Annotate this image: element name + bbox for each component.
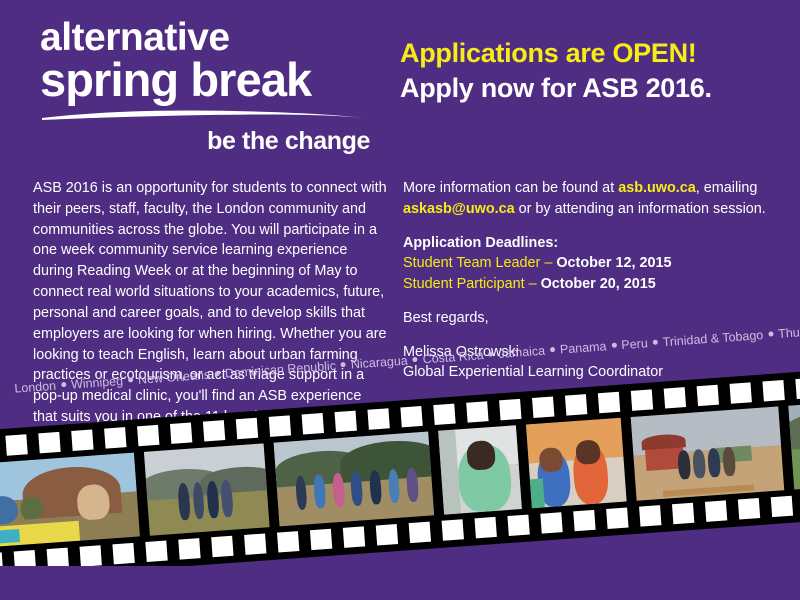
location-separator-dot-icon xyxy=(488,352,493,357)
location-separator-dot-icon xyxy=(653,340,658,345)
deadline-separator: – xyxy=(540,255,556,271)
film-sprocket-hole-icon xyxy=(71,430,93,451)
film-sprocket-hole-icon xyxy=(573,510,595,531)
location-separator-dot-icon xyxy=(550,347,555,352)
location-separator-dot-icon xyxy=(61,382,66,387)
photo-shape xyxy=(20,496,44,519)
film-sprocket-hole-icon xyxy=(409,522,431,543)
film-sprocket-hole-icon xyxy=(80,545,102,566)
asb-logo: alternative spring break be the change xyxy=(40,18,370,156)
film-sprocket-hole-icon xyxy=(343,526,365,547)
photo-shape xyxy=(466,440,496,470)
location-separator-dot-icon xyxy=(128,377,133,382)
film-sprocket-hole-icon xyxy=(277,531,299,552)
film-sprocket-hole-icon xyxy=(795,378,800,399)
film-sprocket-hole-icon xyxy=(367,408,389,429)
film-sprocket-hole-icon xyxy=(664,387,686,408)
deadline-date: October 12, 2015 xyxy=(556,255,671,271)
deadline-separator: – xyxy=(525,276,541,292)
info-suffix-text: or by attending an information session. xyxy=(515,201,766,217)
location-item: London xyxy=(14,379,57,396)
film-sprocket-hole-icon xyxy=(705,500,727,521)
closing-salutation: Best regards, xyxy=(403,308,778,329)
film-sprocket-hole-icon xyxy=(474,517,496,538)
photo-shape xyxy=(575,439,601,464)
film-sprocket-hole-icon xyxy=(672,503,694,524)
film-sprocket-hole-icon xyxy=(598,392,620,413)
deadline-row: Student Participant – October 20, 2015 xyxy=(403,274,778,295)
film-sprocket-hole-icon xyxy=(178,538,200,559)
film-sprocket-hole-icon xyxy=(730,382,752,403)
filmstrip-photo xyxy=(274,432,435,527)
deadlines-heading: Application Deadlines: xyxy=(403,233,778,254)
film-sprocket-hole-icon xyxy=(302,413,324,434)
bottom-purple-band xyxy=(0,566,800,600)
film-sprocket-hole-icon xyxy=(112,543,134,564)
filmstrip-photo: 23 xyxy=(0,453,140,548)
filmstrip-photo xyxy=(788,392,800,489)
filmstrip-photo xyxy=(438,425,522,514)
film-sprocket-hole-icon xyxy=(203,420,225,441)
filmstrip-photo xyxy=(144,443,270,535)
film-sprocket-hole-icon xyxy=(639,505,661,526)
film-sprocket-hole-icon xyxy=(565,394,587,415)
film-sprocket-hole-icon xyxy=(532,397,554,418)
location-item: Nicaragua xyxy=(350,354,408,372)
logo-tagline: be the change xyxy=(40,127,370,156)
film-sprocket-hole-icon xyxy=(433,404,455,425)
film-sprocket-hole-icon xyxy=(507,515,529,536)
film-sprocket-hole-icon xyxy=(38,432,60,453)
photo-shape xyxy=(0,529,20,543)
film-sprocket-hole-icon xyxy=(335,411,357,432)
photo-shape xyxy=(76,483,110,520)
info-prefix-text: More information can be found at xyxy=(403,180,618,196)
filmstrip-photo xyxy=(631,406,785,500)
location-item: Peru xyxy=(621,336,648,352)
location-separator-dot-icon xyxy=(611,343,616,348)
contact-info-paragraph: More information can be found at asb.uwo… xyxy=(403,178,778,220)
film-sprocket-hole-icon xyxy=(762,380,784,401)
film-sprocket-hole-icon xyxy=(269,415,291,436)
film-sprocket-hole-icon xyxy=(310,529,332,550)
logo-line-spring-break: spring break xyxy=(40,56,370,104)
swoosh-flourish-icon xyxy=(40,108,370,124)
film-sprocket-hole-icon xyxy=(400,406,422,427)
deadline-date: October 20, 2015 xyxy=(541,276,656,292)
film-sprocket-hole-icon xyxy=(771,496,793,517)
deadline-label: Student Team Leader xyxy=(403,255,540,271)
headline-applications-open: Applications are OPEN! xyxy=(400,36,780,71)
photo-shape xyxy=(530,479,545,508)
film-sprocket-hole-icon xyxy=(211,536,233,557)
film-sprocket-hole-icon xyxy=(499,399,521,420)
film-sprocket-hole-icon xyxy=(137,425,159,446)
film-sprocket-hole-icon xyxy=(466,401,488,422)
film-sprocket-hole-icon xyxy=(170,422,192,443)
location-separator-dot-icon xyxy=(215,371,220,376)
location-item: Thunder Bay xyxy=(778,322,800,341)
location-separator-dot-icon xyxy=(412,357,417,362)
film-sprocket-hole-icon xyxy=(236,418,258,439)
deadline-label: Student Participant xyxy=(403,276,525,292)
photo-shape xyxy=(539,447,563,472)
info-middle-text: , emailing xyxy=(696,180,758,196)
filmstrip-photo xyxy=(526,418,627,509)
film-sprocket-hole-icon xyxy=(376,524,398,545)
headline-apply-now: Apply now for ASB 2016. xyxy=(400,71,780,106)
film-sprocket-hole-icon xyxy=(442,519,464,540)
logo-line-alternative: alternative xyxy=(40,18,370,58)
film-sprocket-hole-icon xyxy=(697,385,719,406)
film-sprocket-hole-icon xyxy=(104,427,126,448)
film-sprocket-hole-icon xyxy=(145,541,167,562)
deadline-row: Student Team Leader – October 12, 2015 xyxy=(403,253,778,274)
location-separator-dot-icon xyxy=(341,362,346,367)
location-separator-dot-icon xyxy=(768,332,773,337)
film-sprocket-hole-icon xyxy=(738,498,760,519)
film-sprocket-hole-icon xyxy=(244,533,266,554)
headline-block: Applications are OPEN! Apply now for ASB… xyxy=(400,36,780,105)
film-sprocket-hole-icon xyxy=(631,389,653,410)
asb-poster: alternative spring break be the change A… xyxy=(0,0,800,600)
website-link[interactable]: asb.uwo.ca xyxy=(618,180,696,196)
film-sprocket-hole-icon xyxy=(5,434,27,455)
application-deadlines-block: Application Deadlines: Student Team Lead… xyxy=(403,233,778,295)
email-link[interactable]: askasb@uwo.ca xyxy=(403,201,515,217)
film-sprocket-hole-icon xyxy=(606,507,628,528)
film-sprocket-hole-icon xyxy=(540,512,562,533)
